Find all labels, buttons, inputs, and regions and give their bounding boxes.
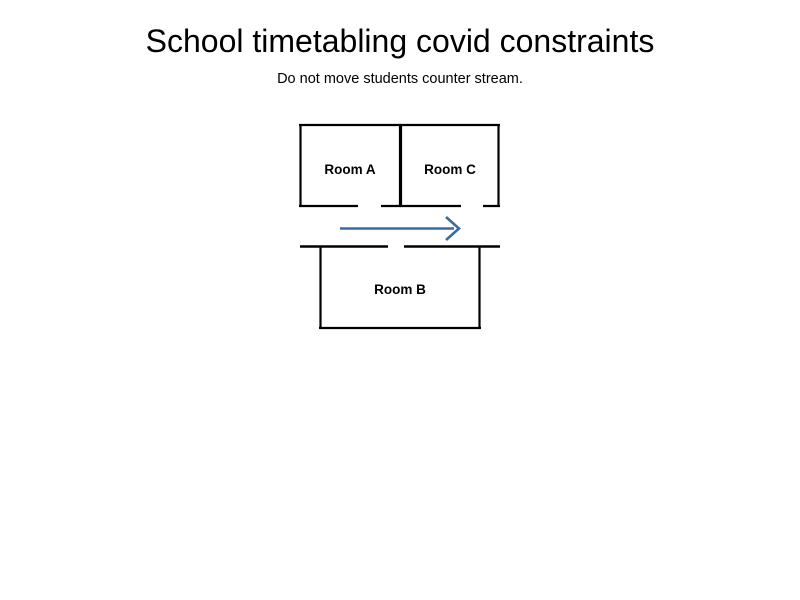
student-flow-arrow (340, 217, 459, 240)
flow-arrow-head-icon (446, 217, 459, 240)
page-subtitle: Do not move students counter stream. (0, 69, 800, 89)
room-label-b: Room B (320, 282, 480, 297)
slide-canvas: School timetabling covid constraints Do … (0, 0, 800, 600)
room-label-c: Room C (400, 162, 500, 177)
room-label-a: Room A (300, 162, 400, 177)
floorplan-diagram (0, 0, 800, 600)
page-title: School timetabling covid constraints (0, 20, 800, 62)
